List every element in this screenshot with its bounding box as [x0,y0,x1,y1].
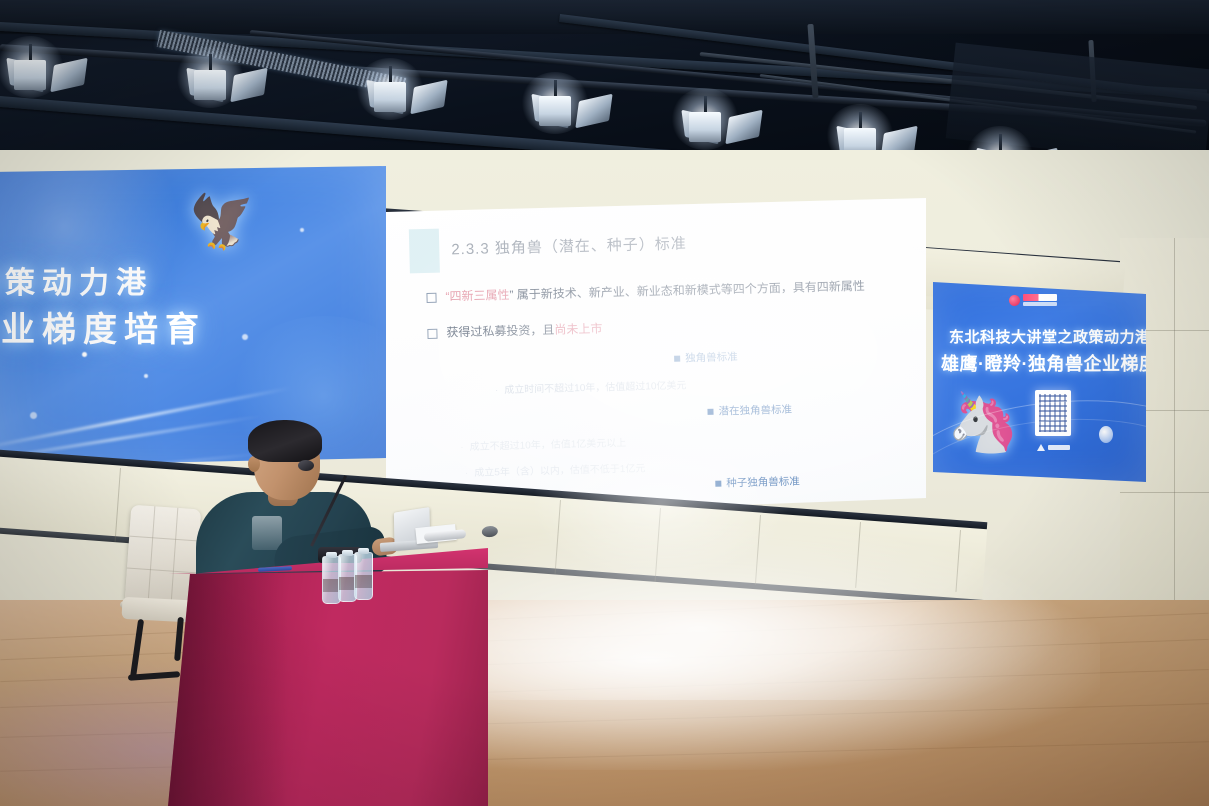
presentation-slide: 2.3.3 独角兽（潜在、种子）标准 “四新三属性” 属于新技术、新产业、新业态… [386,198,926,518]
water-bottle[interactable] [354,552,373,600]
microphone-capsule-icon [298,460,314,471]
bullet-1-highlight: 四新三属性 [449,288,509,304]
slide-category: 种子独角兽标准 [715,474,800,491]
subitem-1-text: 成立时间不超过10年，估值超过10亿美元 [504,376,687,396]
square-bullet-icon [707,408,713,414]
organizer-logo [1009,294,1057,306]
banner-title-line1: 东北科技大讲堂之政策动力港 [949,326,1146,347]
bullet-1-text: ” 属于新技术、新产业、新业态和新模式等四个方面，具有四新属性 [509,279,865,302]
dash-marker: · [465,468,469,479]
bullet-2-text: 获得过私募投资，且 [446,323,554,340]
square-bullet-icon [674,355,680,361]
subitem-3-text: 成立5年（含）以内，估值不低于1亿元 [474,460,645,479]
slide-title: 2.3.3 独角兽（潜在、种子）标准 [451,232,687,259]
dash-marker: · [495,385,499,396]
left-screen-line2: 企业梯度培育 [0,302,206,351]
checkbox-marker [426,293,436,303]
slide-subitem: · 成立时间不超过10年，估值超过10亿美元 [495,376,687,396]
dash-marker: · [460,442,464,453]
eagle-emblem: 🦅 [187,190,260,252]
slide-bullet: “四新三属性” 属于新技术、新产业、新业态和新模式等四个方面，具有四新属性 [426,277,896,305]
slide-subitem: · 成立5年（含）以内，估值不低于1亿元 [465,460,646,480]
left-screen-line1: 政策动力港 [0,258,153,302]
banner-footer [1037,444,1070,451]
slide-subitem: · 成立不超过10年，估值1亿美元以上 [460,434,626,453]
checkbox-marker [427,329,437,339]
bullet-2-highlight: 尚未上市 [554,322,602,337]
shirt-graphic [252,516,282,550]
square-bullet-icon [715,480,721,486]
presenter-hair [248,420,322,462]
category-3-label: 种子独角兽标准 [726,474,800,491]
subitem-2-text: 成立不超过10年，估值1亿美元以上 [469,434,626,453]
slide-bullet: 获得过私募投资，且尚未上市 [427,313,897,341]
slide-accent-block [409,229,440,274]
banner-title-line2: 雄鹰·瞪羚·独角兽企业梯度培育 [941,350,1146,376]
category-1-label: 独角兽标准 [685,349,738,365]
slide-category: 潜在独角兽标准 [707,402,792,419]
category-2-label: 潜在独角兽标准 [718,402,792,419]
triangle-icon [1037,444,1045,451]
logo-mark-icon [1009,295,1020,306]
slide-category: 独角兽标准 [674,349,738,366]
right-led-banner: 东北科技大讲堂之政策动力港 雄鹰·瞪羚·独角兽企业梯度培育 🦄 [933,282,1146,482]
lecture-hall-photo: 🦅 政策动力港 企业梯度培育 2.3.3 独角兽（潜在、种子）标准 “四新三属性… [0,0,1209,806]
